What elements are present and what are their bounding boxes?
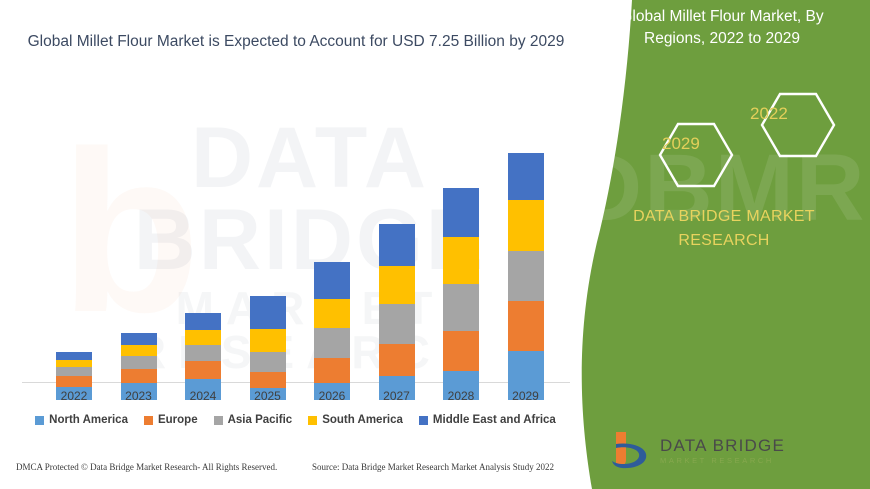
legend-item[interactable]: Middle East and Africa: [419, 414, 556, 426]
company-logo: DATA BRIDGE MARKET RESEARCH: [608, 430, 785, 472]
bar-segment[interactable]: [508, 200, 544, 251]
bar-group: [379, 27, 415, 400]
bar-segment[interactable]: [443, 284, 479, 331]
stacked-bar[interactable]: [508, 153, 544, 400]
bar-segment[interactable]: [185, 313, 221, 330]
bar-segment[interactable]: [379, 224, 415, 266]
bar-segment[interactable]: [443, 237, 479, 284]
bar-segment[interactable]: [185, 330, 221, 345]
logo-text: DATA BRIDGE MARKET RESEARCH: [660, 437, 785, 465]
panel-brand-line2: RESEARCH: [678, 232, 769, 249]
legend-swatch-icon: [214, 416, 223, 425]
legend-swatch-icon: [144, 416, 153, 425]
bar-segment[interactable]: [250, 372, 286, 388]
chart-legend: North AmericaEuropeAsia PacificSouth Ame…: [28, 414, 563, 426]
bar-segment[interactable]: [314, 328, 350, 358]
panel-title: Global Millet Flour Market, By Regions, …: [596, 6, 848, 51]
bar-segment[interactable]: [379, 344, 415, 376]
x-axis-label: 2028: [431, 389, 491, 403]
bar-segment[interactable]: [121, 345, 157, 356]
x-axis-label: 2022: [44, 389, 104, 403]
bar-group: [508, 27, 544, 400]
bar-segment[interactable]: [56, 352, 92, 359]
panel-brand-text: DATA BRIDGE MARKET RESEARCH: [598, 205, 850, 253]
legend-label: Europe: [158, 414, 198, 426]
bar-segment[interactable]: [250, 352, 286, 372]
bar-segment[interactable]: [185, 345, 221, 361]
brand-panel: DBMR Global Millet Flour Market, By Regi…: [570, 0, 870, 489]
bar-group: [314, 27, 350, 400]
x-axis-label: 2029: [496, 389, 556, 403]
data-bridge-logo-icon: [608, 430, 652, 472]
hexagon-label-2022: 2022: [750, 104, 788, 124]
chart-plot-area: 20222023202420252026202720282029: [0, 0, 590, 400]
bar-group: [121, 27, 157, 400]
bar-segment[interactable]: [443, 188, 479, 237]
legend-swatch-icon: [419, 416, 428, 425]
hexagon-group: 2029 2022: [630, 90, 850, 195]
bar-segment[interactable]: [56, 360, 92, 368]
bar-segment[interactable]: [508, 301, 544, 351]
bar-segment[interactable]: [250, 329, 286, 352]
legend-item[interactable]: South America: [308, 414, 403, 426]
stacked-bar[interactable]: [314, 262, 350, 400]
x-axis-label: 2024: [173, 389, 233, 403]
legend-label: Middle East and Africa: [433, 414, 556, 426]
bar-group: [443, 27, 479, 400]
bar-segment[interactable]: [508, 251, 544, 301]
bar-segment[interactable]: [121, 333, 157, 345]
bar-segment[interactable]: [250, 296, 286, 329]
bar-segment[interactable]: [121, 369, 157, 383]
bar-segment[interactable]: [379, 266, 415, 304]
bar-group: [250, 27, 286, 400]
stacked-bar[interactable]: [185, 313, 221, 400]
panel-brand-line1: DATA BRIDGE MARKET: [633, 208, 815, 225]
bar-segment[interactable]: [379, 304, 415, 344]
x-axis-line: [22, 382, 570, 383]
legend-swatch-icon: [35, 416, 44, 425]
bar-segment[interactable]: [443, 331, 479, 371]
logo-main-text: DATA BRIDGE: [660, 437, 785, 454]
logo-sub-text: MARKET RESEARCH: [660, 457, 785, 465]
bar-group: [56, 27, 92, 400]
legend-item[interactable]: Asia Pacific: [214, 414, 293, 426]
footer-copyright: DMCA Protected © Data Bridge Market Rese…: [16, 462, 277, 472]
stacked-bar[interactable]: [443, 188, 479, 400]
legend-label: South America: [322, 414, 403, 426]
legend-label: Asia Pacific: [228, 414, 293, 426]
bar-group: [185, 27, 221, 400]
x-axis-label: 2026: [302, 389, 362, 403]
stacked-bar[interactable]: [250, 296, 286, 400]
legend-label: North America: [49, 414, 128, 426]
footer-source: Source: Data Bridge Market Research Mark…: [312, 462, 554, 472]
x-axis-label: 2023: [109, 389, 169, 403]
bar-segment[interactable]: [185, 361, 221, 379]
legend-item[interactable]: North America: [35, 414, 128, 426]
legend-swatch-icon: [308, 416, 317, 425]
infographic-page: b DATA BRIDGE MARKET RESEARCH Global Mil…: [0, 0, 870, 489]
x-axis-label: 2027: [367, 389, 427, 403]
bar-segment[interactable]: [314, 262, 350, 298]
bar-segment[interactable]: [56, 376, 92, 387]
bar-segment[interactable]: [121, 356, 157, 369]
bar-segment[interactable]: [56, 367, 92, 376]
stacked-bar[interactable]: [379, 224, 415, 400]
hexagon-label-2029: 2029: [662, 134, 700, 154]
legend-item[interactable]: Europe: [144, 414, 198, 426]
bar-segment[interactable]: [314, 299, 350, 329]
x-axis-label: 2025: [238, 389, 298, 403]
bar-segment[interactable]: [314, 358, 350, 383]
footer: DMCA Protected © Data Bridge Market Rese…: [0, 459, 600, 489]
bar-segment[interactable]: [508, 153, 544, 200]
